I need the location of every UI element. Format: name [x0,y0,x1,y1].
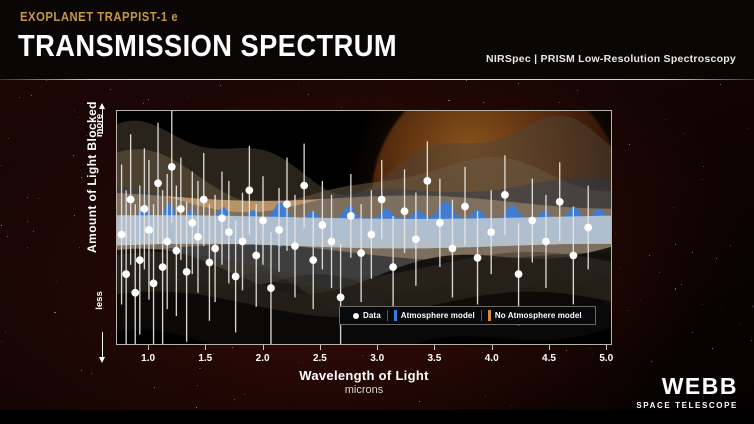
no-atmosphere-swatch-icon [488,310,491,321]
x-axis-tick [377,345,378,350]
page-title: TRANSMISSION SPECTRUM [18,28,397,64]
header-eyebrow: EXOPLANET TRAPPIST-1 e [20,10,178,24]
x-axis-tick [434,345,435,350]
footer-bar [0,410,754,424]
legend-item-data[interactable]: Data [347,311,387,320]
x-axis-title: Wavelength of Light [116,368,612,383]
x-axis-tick [549,345,550,350]
header-divider [0,79,754,80]
y-axis-up-arrow-icon [102,108,103,134]
x-axis-tick-label: 2.5 [313,353,327,364]
instrument-label: NIRSpec | PRISM Low-Resolution Spectrosc… [486,53,736,65]
x-axis-tick [263,345,264,350]
x-axis-tick [606,345,607,350]
plot-area: Data Atmosphere model No Atmosphere mode… [116,110,612,345]
webb-logo-main: WEBB [636,375,738,398]
x-axis-tick-label: 1.5 [198,353,212,364]
x-axis-tick-label: 2.0 [256,353,270,364]
x-axis-tick-label: 3.0 [370,353,384,364]
legend-item-no-atmosphere[interactable]: No Atmosphere model [482,310,588,321]
x-axis-tick [148,345,149,350]
x-axis-tick [492,345,493,350]
webb-logo-sub: SPACE TELESCOPE [636,401,738,410]
chart-legend[interactable]: Data Atmosphere model No Atmosphere mode… [339,306,596,325]
legend-item-atmosphere[interactable]: Atmosphere model [388,310,481,321]
x-axis-subtitle: microns [116,384,612,396]
x-axis-tick [205,345,206,350]
y-axis-title: Amount of Light Blocked [85,80,99,277]
x-axis-tick-label: 5.0 [599,353,613,364]
header: EXOPLANET TRAPPIST-1 e TRANSMISSION SPEC… [0,0,754,80]
y-axis-more-label: more [94,114,105,137]
x-axis-tick [320,345,321,350]
webb-logo: WEBB SPACE TELESCOPE [636,375,738,410]
y-axis-less-label: less [94,291,105,310]
x-axis-tick-label: 4.0 [485,353,499,364]
chart-stage: Amount of Light Blocked more less Data [0,80,754,424]
legend-label-atmosphere: Atmosphere model [401,311,475,320]
atmosphere-swatch-icon [394,310,397,321]
x-axis-tick-label: 1.0 [141,353,155,364]
y-axis-down-arrow-icon [102,332,103,358]
legend-label-no-atmosphere: No Atmosphere model [495,311,582,320]
data-marker-icon [353,313,359,319]
x-axis-tick-label: 3.5 [427,353,441,364]
legend-label-data: Data [363,311,381,320]
poster-root: EXOPLANET TRAPPIST-1 e TRANSMISSION SPEC… [0,0,754,424]
x-axis-tick-label: 4.5 [542,353,556,364]
